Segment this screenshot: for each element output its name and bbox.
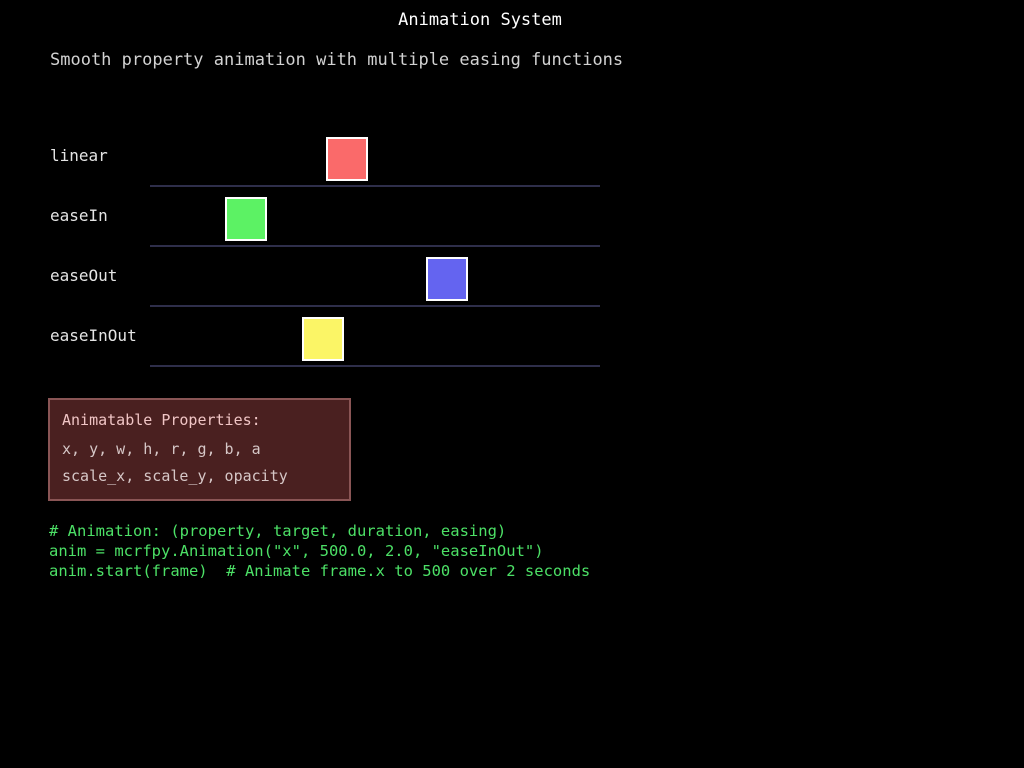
animated-box-linear: [326, 137, 368, 181]
page-title: Animation System: [0, 10, 960, 30]
animated-box-easein: [225, 197, 267, 241]
animated-box-easeinout: [302, 317, 344, 361]
animation-demo-screen: Animation System Smooth property animati…: [0, 0, 1024, 768]
track-baseline: [150, 305, 600, 307]
code-line: anim = mcrfpy.Animation("x", 500.0, 2.0,…: [49, 541, 590, 561]
easing-track-label: linear: [50, 146, 108, 165]
easing-track-label: easeIn: [50, 206, 108, 225]
easing-track-list: linear easeIn easeOut easeInOut: [0, 130, 1024, 370]
easing-track-label: easeInOut: [50, 326, 137, 345]
code-line: anim.start(frame) # Animate frame.x to 5…: [49, 561, 590, 581]
track-baseline: [150, 245, 600, 247]
easing-track-easeinout: easeInOut: [0, 310, 1024, 370]
easing-track-linear: linear: [0, 130, 1024, 190]
animatable-properties-panel: Animatable Properties: x, y, w, h, r, g,…: [48, 398, 351, 501]
track-baseline: [150, 365, 600, 367]
easing-track-label: easeOut: [50, 266, 117, 285]
info-panel-title: Animatable Properties:: [62, 411, 261, 429]
track-baseline: [150, 185, 600, 187]
code-sample: # Animation: (property, target, duration…: [49, 521, 590, 581]
easing-track-easein: easeIn: [0, 190, 1024, 250]
page-subtitle: Smooth property animation with multiple …: [50, 50, 623, 70]
animated-box-easeout: [426, 257, 468, 301]
easing-track-easeout: easeOut: [0, 250, 1024, 310]
code-line: # Animation: (property, target, duration…: [49, 521, 590, 541]
info-panel-line-1: x, y, w, h, r, g, b, a: [62, 440, 261, 458]
info-panel-line-2: scale_x, scale_y, opacity: [62, 467, 288, 485]
